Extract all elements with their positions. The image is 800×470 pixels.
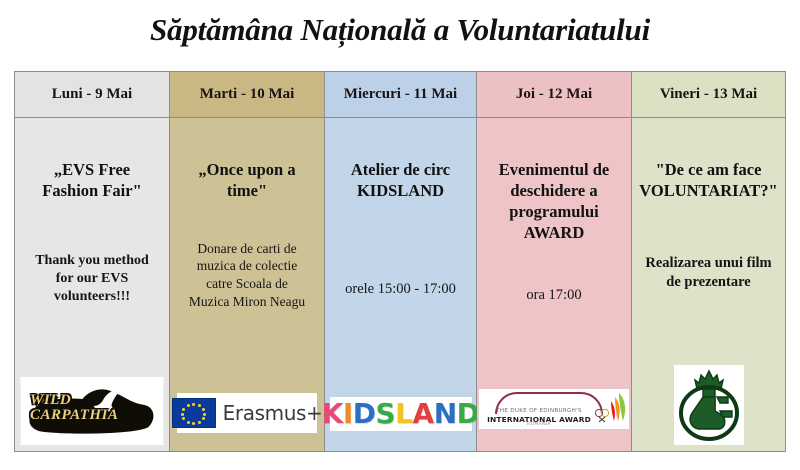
award-line-3: ROMANIA xyxy=(483,422,595,427)
column-header-label: Vineri - 13 Mai xyxy=(660,86,757,103)
event-subline: Realizarea unui film de prezentare xyxy=(645,254,771,292)
award-line-1: THE DUKE OF EDINBURGH'S xyxy=(483,408,595,414)
wild-carpathia-logo: WILDCARPATHIA xyxy=(21,377,164,445)
table-body-row: „EVS Free Fashion Fair" Thank you method… xyxy=(15,117,785,451)
award-inner: THE DUKE OF EDINBURGH'S INTERNATIONAL AW… xyxy=(481,391,627,427)
column-header-monday: Luni - 9 Mai xyxy=(15,72,170,117)
table-header-row: Luni - 9 Mai Marti - 10 Mai Miercuri - 1… xyxy=(15,72,785,117)
wild-carpathia-plate: WILDCARPATHIA xyxy=(26,385,158,437)
kidsland-letter: K xyxy=(322,397,343,430)
duke-of-edinburgh-award-logo: THE DUKE OF EDINBURGH'S INTERNATIONAL AW… xyxy=(479,389,629,429)
kidsland-letter: D xyxy=(457,397,480,430)
day-cell-friday: "De ce am face VOLUNTARIAT?" Realizarea … xyxy=(632,118,785,451)
weekly-schedule-table: Luni - 9 Mai Marti - 10 Mai Miercuri - 1… xyxy=(14,71,786,452)
column-header-label: Luni - 9 Mai xyxy=(52,86,132,103)
green-ship-emblem-icon xyxy=(676,367,742,443)
column-header-label: Joi - 12 Mai xyxy=(516,86,592,103)
kidsland-letter: D xyxy=(353,397,376,430)
eu-flag-icon xyxy=(172,398,216,428)
wc-line1: WILD xyxy=(30,392,71,408)
kidsland-letter: A xyxy=(413,397,434,430)
event-headline: Atelier de circ KIDSLAND xyxy=(351,160,450,202)
kidsland-letter: I xyxy=(343,397,353,430)
award-rings-icon xyxy=(593,408,613,424)
event-subline: Thank you method for our EVS volunteers!… xyxy=(35,252,149,307)
green-emblem-logo xyxy=(674,365,744,445)
event-headline: Evenimentul de deschidere a programului … xyxy=(499,160,609,244)
page-title: Săptămâna Națională a Voluntariatului xyxy=(0,12,800,48)
column-header-label: Marti - 10 Mai xyxy=(200,86,295,103)
event-detail: orele 15:00 - 17:00 xyxy=(345,280,456,299)
poster-root: Săptămâna Națională a Voluntariatului Lu… xyxy=(0,0,800,470)
wc-line2: CARPATHIA xyxy=(30,407,118,423)
kidsland-logo: KIDSLAND xyxy=(330,397,472,431)
wild-carpathia-wordmark: WILDCARPATHIA xyxy=(30,393,118,423)
erasmus-wordmark: Erasmus+ xyxy=(223,401,323,425)
kidsland-letter: L xyxy=(395,397,412,430)
day-cell-wednesday: Atelier de circ KIDSLAND orele 15:00 - 1… xyxy=(325,118,477,451)
event-headline: "De ce am face VOLUNTARIAT?" xyxy=(639,160,777,202)
kidsland-letter: S xyxy=(376,397,396,430)
column-header-label: Miercuri - 11 Mai xyxy=(344,86,457,103)
day-cell-tuesday: „Once upon a time" Donare de carti de mu… xyxy=(170,118,325,451)
event-subline: Donare de carti de muzica de colectie ca… xyxy=(189,240,305,310)
kidsland-letter: N xyxy=(434,397,457,430)
erasmus-plus-logo: Erasmus+ xyxy=(177,393,317,433)
column-header-friday: Vineri - 13 Mai xyxy=(632,72,785,117)
column-header-tuesday: Marti - 10 Mai xyxy=(170,72,325,117)
event-headline: „Once upon a time" xyxy=(198,160,295,202)
column-header-thursday: Joi - 12 Mai xyxy=(477,72,632,117)
event-detail: ora 17:00 xyxy=(526,286,581,305)
day-cell-thursday: Evenimentul de deschidere a programului … xyxy=(477,118,632,451)
event-headline: „EVS Free Fashion Fair" xyxy=(42,160,141,202)
erasmus-inner: Erasmus+ xyxy=(172,398,323,428)
column-header-wednesday: Miercuri - 11 Mai xyxy=(325,72,477,117)
day-cell-monday: „EVS Free Fashion Fair" Thank you method… xyxy=(15,118,170,451)
kidsland-wordmark: KIDSLAND xyxy=(322,400,480,428)
